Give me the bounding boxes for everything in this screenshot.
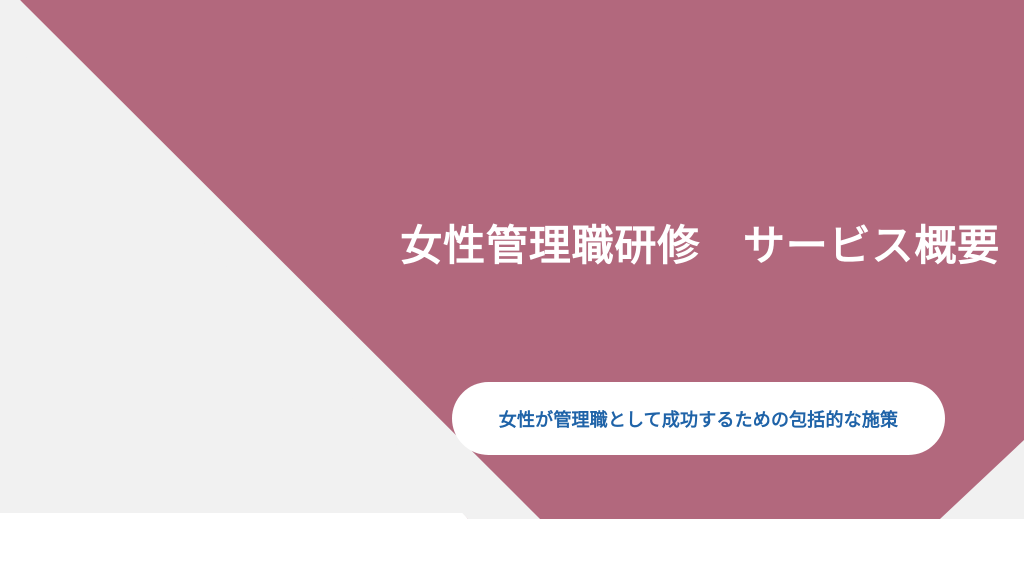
page-title: 女性管理職研修 サービス概要 [0,222,1000,270]
subtitle-pill: 女性が管理職として成功するための包括的な施策 [452,382,945,455]
subtitle-pill-text: 女性が管理職として成功するための包括的な施策 [499,406,898,432]
slide-footer: あなたの学びをデザインする LDcube Learning Developmen… [0,513,1024,576]
slide-canvas: 女性管理職研修 サービス概要 女性が管理職として成功するための包括的な施策 あな… [0,0,1024,576]
